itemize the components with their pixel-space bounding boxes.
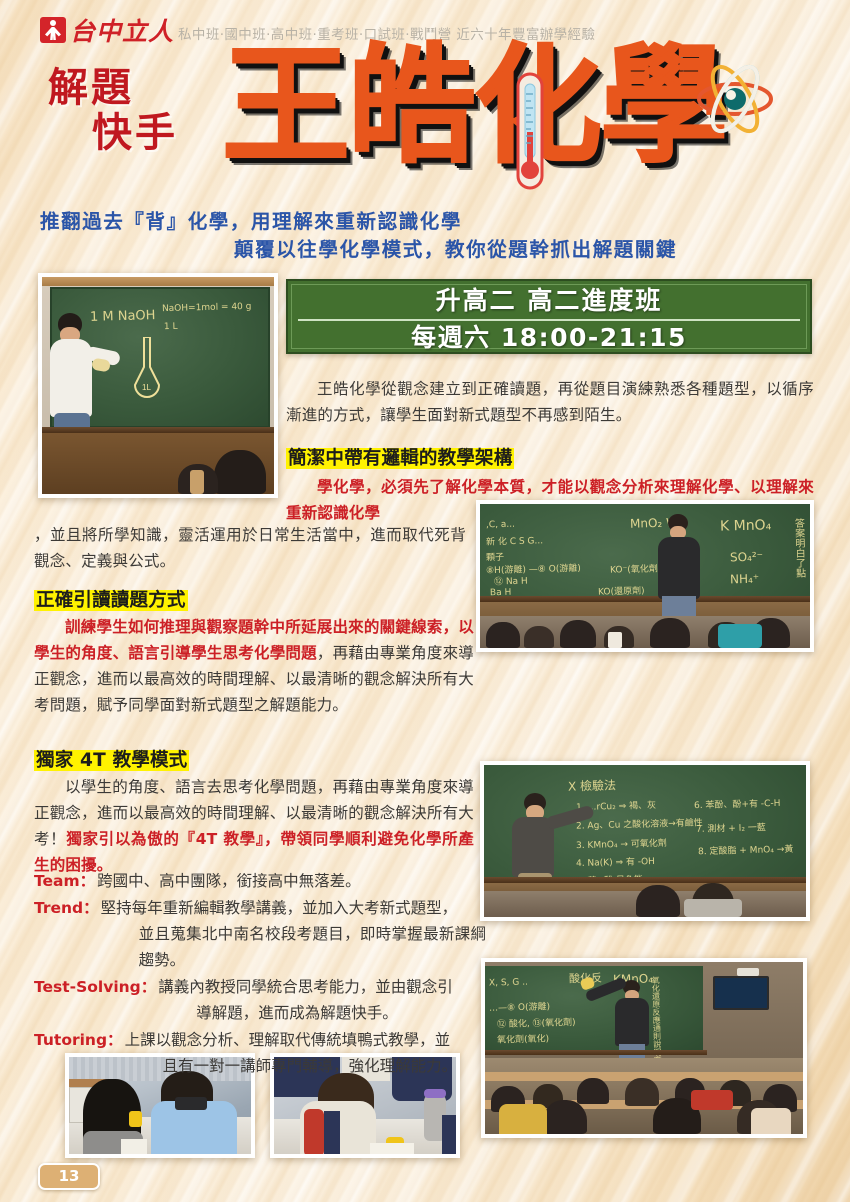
section-structure-rest-text: ，並且將所學知識，靈活運用於日常生活當中，進而取代死背觀念、定義與公式。 xyxy=(34,526,466,570)
photo-teacher-naoh: 1 M NaOH NaOH=1mol = 40 g 1 L 1L xyxy=(38,273,278,498)
poster-page: 台中立人 私中班‧國中班‧高中班‧重考班‧口試班‧戰鬥營 近六十年豐富辦學經驗 … xyxy=(0,0,850,1202)
four-t-row: Trend： 堅持每年重新編輯教學講義，並加入大考新式題型，並且蒐集北中南名校段… xyxy=(34,895,486,973)
person-in-square-logo-icon xyxy=(40,17,66,43)
page-number-badge: 13 xyxy=(38,1163,100,1190)
kicker-line-1: 解題 xyxy=(48,64,134,111)
four-t-value: 跨國中、高中團隊，銜接高中無落差。 xyxy=(97,872,361,890)
title-kicker: 解題 快手 xyxy=(48,66,178,156)
subtitle-line-2: 顛覆以往學化學模式，教你從題幹抓出解題關鍵 xyxy=(0,236,850,264)
atom-icon xyxy=(694,58,776,140)
section-fourt: 獨家 4T 教學模式 以學生的角度、語言去思考化學問題，再藉由專業角度來導正觀念… xyxy=(34,748,474,878)
section-reading: 正確引讀讀題方式 訓練學生如何推理與觀察題幹中所延展出來的關鍵線索，以學生的角度… xyxy=(34,588,474,718)
page-title: 王皓化學 xyxy=(222,44,726,169)
four-t-value: 講義內教授同學統合思考能力，並由觀念引 xyxy=(158,978,453,996)
four-t-list: Team： 跨國中、高中團隊，銜接高中無落差。 Trend： 堅持每年重新編輯教… xyxy=(34,868,486,1080)
four-t-row: Team： 跨國中、高中團隊，銜接高中無落差。 xyxy=(34,868,486,894)
photo-teacher-pointing: X 檢驗法 1. …rCu₂ ⇒ 褐、灰 2. Ag、Cu 之酸化溶液→有鹼性 … xyxy=(480,761,810,921)
section-structure-heading: 簡潔中帶有邏輯的教學架構 xyxy=(286,448,514,469)
section-structure-heading-wrap: 簡潔中帶有邏輯的教學架構 xyxy=(286,446,814,472)
kicker-line-2: 快手 xyxy=(92,111,178,156)
course-schedule: 每週六 18:00-21:15 xyxy=(288,321,810,355)
four-t-key: Trend： xyxy=(34,895,101,921)
masthead: 台中立人 私中班‧國中班‧高中班‧重考班‧口試班‧戰鬥營 近六十年豐富辦學經驗 … xyxy=(0,0,850,205)
four-t-row: Tutoring： 上課以觀念分析、理解取代傳統填鴨式教學，並且有一對一講師專門… xyxy=(34,1027,486,1079)
four-t-value: 上課以觀念分析、理解取代傳統填鴨式教學，並 xyxy=(125,1031,451,1049)
four-t-continuation: 導解題，進而成為解題快手。 xyxy=(158,1000,486,1026)
subtitle-block: 推翻過去『背』化學，用理解來重新認識化學 顛覆以往學化學模式，教你從題幹抓出解題… xyxy=(0,208,850,265)
intro-paragraph: 王皓化學從觀念建立到正確讀題，再從題目演練熟悉各種題型，以循序漸進的方式，讓學生… xyxy=(286,376,814,428)
thermometer-icon xyxy=(514,72,546,190)
subtitle-line-1: 推翻過去『背』化學，用理解來重新認識化學 xyxy=(0,208,850,236)
course-info-box: 升高二 高二進度班 每週六 18:00-21:15 xyxy=(286,279,812,354)
four-t-key: Test-Solving： xyxy=(34,974,158,1000)
course-name: 升高二 高二進度班 xyxy=(288,281,810,319)
photo-class-wide: X, S, G .. …—⑧ O(游離) ⑫ 酸化, ⑬(氧化劑) 氧化劑(氧化… xyxy=(481,958,807,1138)
four-t-key: Team： xyxy=(34,868,97,894)
section-structure-emphasis: 學化學，必須先了解化學本質，才能以觀念分析來理解化學、以理解來重新認識化學 xyxy=(286,478,814,522)
section-structure-body-rest: ，並且將所學知識，靈活運用於日常生活當中，進而取代死背觀念、定義與公式。 xyxy=(34,522,466,574)
four-t-value: 堅持每年重新編輯教學講義，並加入大考新式題型， xyxy=(101,899,458,917)
intro-text: 王皓化學從觀念建立到正確讀題，再從題目演練熟悉各種題型，以循序漸進的方式，讓學生… xyxy=(286,376,814,428)
svg-text:1L: 1L xyxy=(142,383,151,392)
section-fourt-heading: 獨家 4T 教學模式 xyxy=(34,750,189,771)
four-t-row: Test-Solving： 講義內教授同學統合思考能力，並由觀念引導解題，進而成… xyxy=(34,974,486,1026)
section-structure-body-top: 學化學，必須先了解化學本質，才能以觀念分析來理解化學、以理解來重新認識化學 xyxy=(286,474,814,526)
four-t-continuation: 並且蒐集北中南名校段考題目，即時掌握最新課綱趨勢。 xyxy=(101,921,486,973)
section-reading-heading: 正確引讀讀題方式 xyxy=(34,590,188,611)
four-t-key: Tutoring： xyxy=(34,1027,125,1053)
four-t-continuation: 且有一對一講師專門輔導，強化理解能力。 xyxy=(125,1053,486,1079)
brand-name: 台中立人 xyxy=(70,19,174,44)
